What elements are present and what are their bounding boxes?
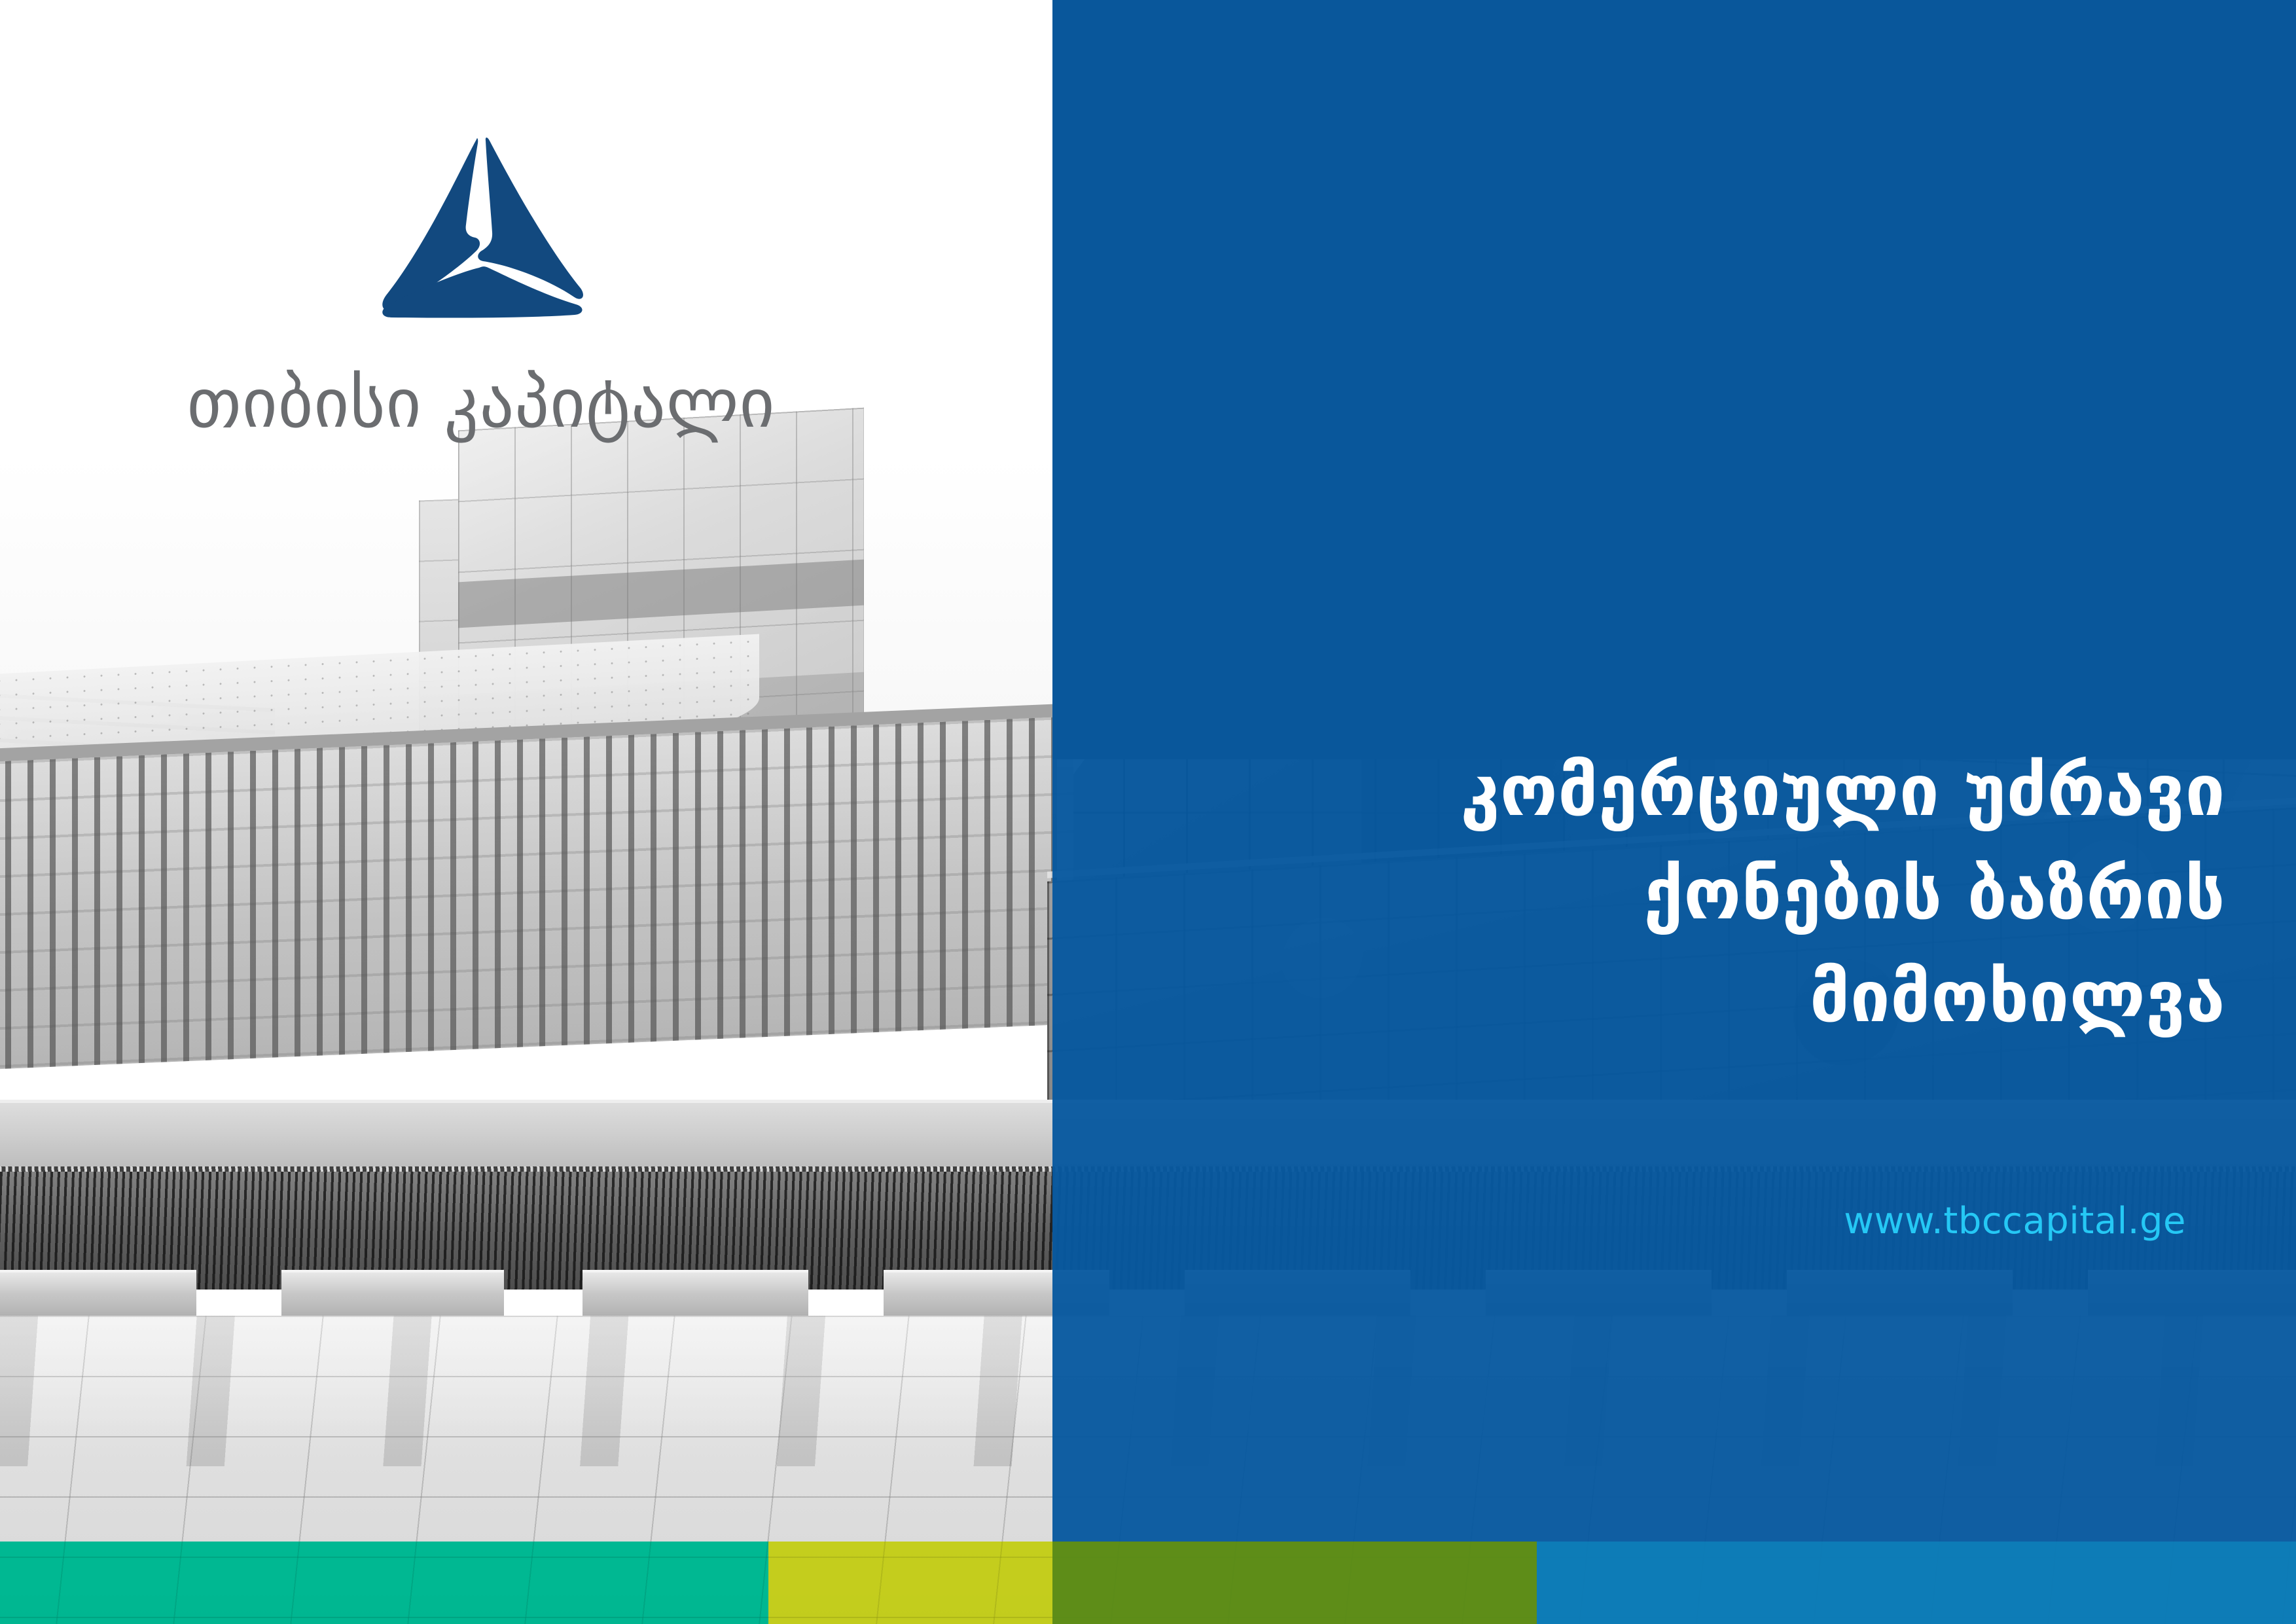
page-title-line-3: მიმოხილვა (1113, 946, 2225, 1049)
plaza-paving (0, 1316, 2296, 1624)
vertical-fin-facade (0, 716, 1073, 1070)
brand-wordmark: თიბისი კაპიტალი (167, 367, 795, 440)
cover-page: თიბისი კაპიტალი კომერციული უძრავი ქონები… (0, 0, 2296, 1624)
paving-light-falloff (0, 1316, 2296, 1624)
page-title: კომერციული უძრავი ქონების ბაზრის მიმოხილ… (1113, 740, 2225, 1049)
website-url[interactable]: www.tbccapital.ge (1571, 1203, 2186, 1240)
page-title-line-2: ქონების ბაზრის (1113, 843, 2225, 947)
page-title-line-1: კომერციული უძრავი (1113, 740, 2225, 843)
fin-facade-fins (0, 716, 1073, 1070)
tbc-triskelion-logo (367, 134, 589, 324)
blue-sky-fill (1052, 0, 2296, 759)
